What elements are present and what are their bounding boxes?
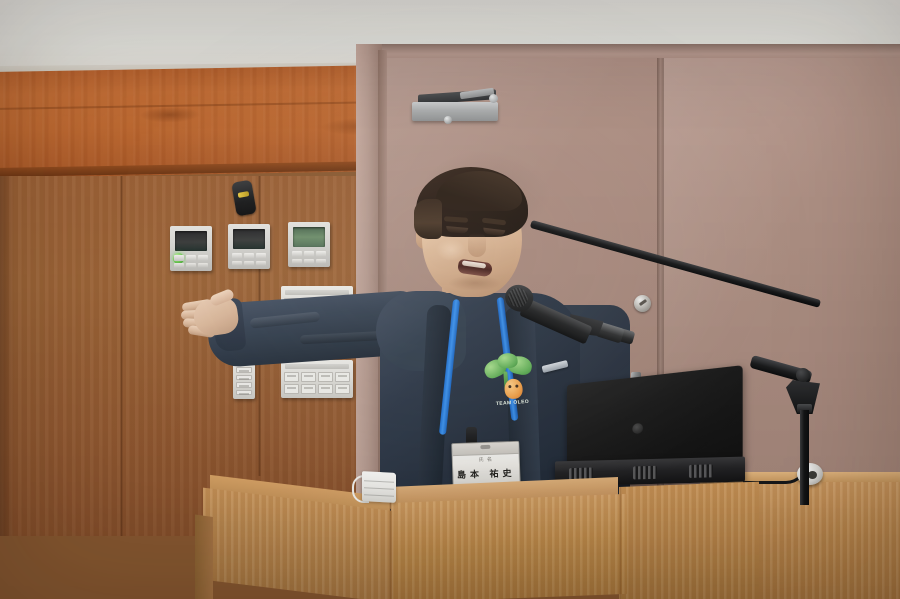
- podium-face-right: [391, 494, 627, 599]
- wristwatch: [231, 180, 257, 217]
- badge-name-text: 島本 祐史: [453, 466, 519, 481]
- face-mask[interactable]: [352, 470, 396, 502]
- mic-stand-post: [800, 410, 809, 505]
- presentation-photo: 氏 名 島本 祐史 TEAM OLEO: [0, 0, 900, 599]
- hair-sideburn: [414, 199, 442, 239]
- laptop-vent: [689, 464, 713, 478]
- podium-corner-edge: [389, 495, 392, 599]
- podium-grain-texture: [391, 494, 627, 599]
- podium-left-side: [195, 514, 213, 599]
- door-closer-body: [412, 102, 498, 121]
- door-frame-shadow: [356, 44, 900, 54]
- laptop-vent: [633, 466, 657, 480]
- nose: [468, 233, 486, 257]
- open-hand: [182, 285, 252, 347]
- logo-text: TEAM OLEO: [484, 398, 540, 408]
- mask-pleat: [364, 494, 394, 497]
- mask-body: [362, 471, 396, 503]
- logo-mascot-icon: [504, 378, 523, 399]
- badge-slot: [480, 445, 490, 449]
- chin-shadow: [448, 275, 502, 291]
- panel-seam: [120, 176, 123, 536]
- badge-title-text: 氏 名: [453, 455, 519, 464]
- door-closer-pivot: [489, 94, 498, 103]
- chest-logo: TEAM OLEO: [483, 351, 539, 410]
- podium-corner-edge: [619, 487, 622, 599]
- laptop-logo-icon: [632, 423, 643, 434]
- cheek-highlight: [436, 239, 466, 261]
- laptop[interactable]: [565, 385, 750, 490]
- microphone[interactable]: [505, 285, 635, 345]
- cable-grommet-hole: [808, 471, 817, 479]
- wall-left-shadow: [0, 176, 14, 536]
- mask-pleat: [364, 480, 394, 483]
- mic-stand-adjust-knob[interactable]: [796, 368, 810, 382]
- door-closer-icon: [412, 92, 502, 122]
- logo-leaf-center: [497, 353, 518, 369]
- podium: [195, 489, 755, 599]
- mask-pleat: [364, 487, 394, 490]
- podium-grain-texture: [619, 482, 759, 599]
- door-closer-screw: [444, 116, 452, 124]
- podium-face-far: [619, 482, 759, 599]
